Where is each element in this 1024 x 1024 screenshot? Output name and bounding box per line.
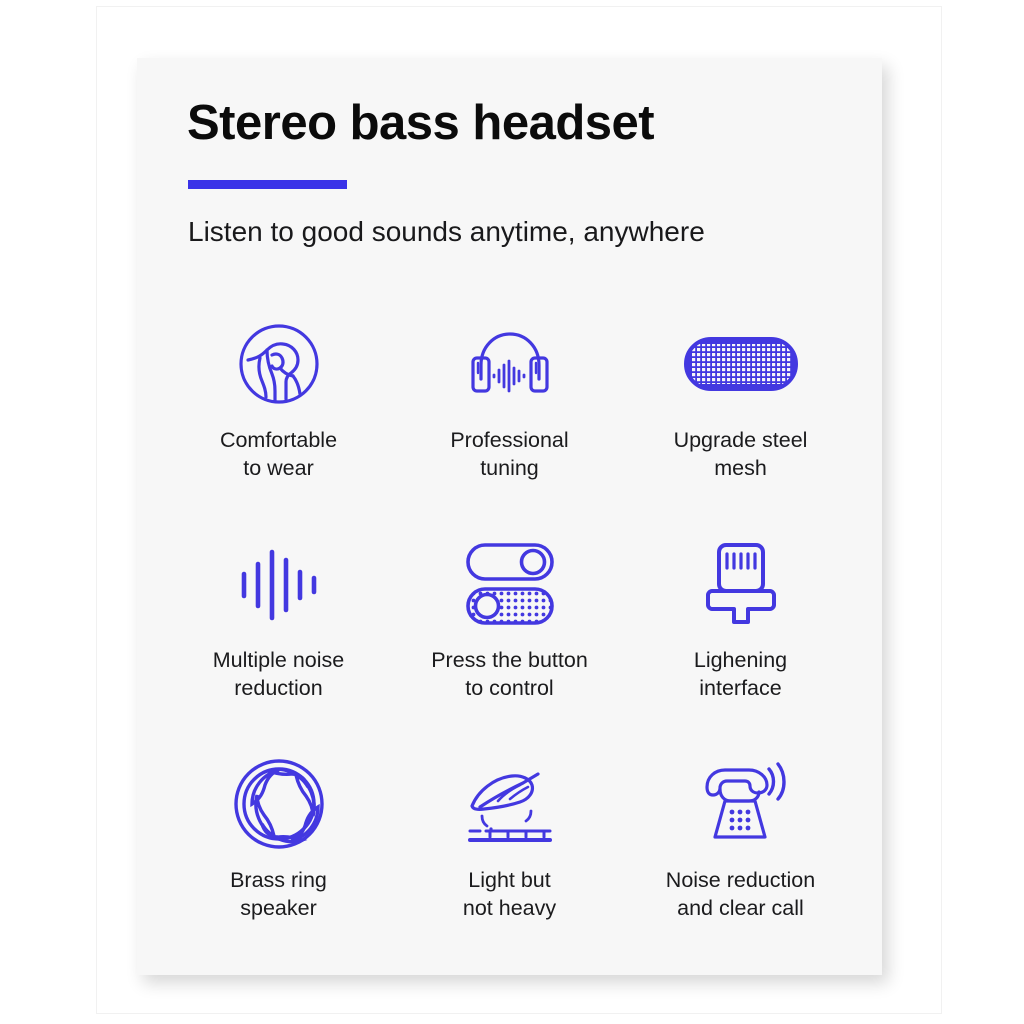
connector-plug-icon xyxy=(701,530,781,638)
feature-item-upgrade-steel-mesh: Upgrade steel mesh xyxy=(625,310,856,530)
feature-label: Press the button to control xyxy=(431,646,588,703)
feature-label: Professional tuning xyxy=(450,426,568,483)
feature-label: Multiple noise reduction xyxy=(213,646,344,703)
page-root: Stereo bass headset Listen to good sound… xyxy=(0,0,1024,1024)
head-in-circle-icon xyxy=(236,310,322,418)
feature-item-light-but-not-heavy: Light but not heavy xyxy=(394,750,625,970)
feature-label: Brass ring speaker xyxy=(230,866,327,923)
feather-scale-icon xyxy=(460,750,560,858)
retro-telephone-icon xyxy=(693,750,789,858)
feature-label: Light but not heavy xyxy=(463,866,556,923)
feature-item-multiple-noise-reduction: Multiple noise reduction xyxy=(163,530,394,750)
toggle-switches-icon xyxy=(463,530,557,638)
feature-item-noise-reduction-and-clear-call: Noise reduction and clear call xyxy=(625,750,856,970)
feature-label: Noise reduction and clear call xyxy=(666,866,815,923)
page-title: Stereo bass headset xyxy=(187,98,654,149)
page-subtitle: Listen to good sounds anytime, anywhere xyxy=(188,215,705,249)
feature-label: Comfortable to wear xyxy=(220,426,337,483)
aperture-speaker-icon xyxy=(232,750,326,858)
title-accent-bar xyxy=(188,180,347,189)
feature-item-brass-ring-speaker: Brass ring speaker xyxy=(163,750,394,970)
feature-grid: Comfortable to wear xyxy=(163,310,856,970)
feature-item-lighening-interface: Lighening interface xyxy=(625,530,856,750)
soundwave-bars-icon xyxy=(229,530,329,638)
feature-item-professional-tuning: Professional tuning xyxy=(394,310,625,530)
card-inner: Stereo bass headset Listen to good sound… xyxy=(137,58,882,975)
steel-mesh-pill-icon xyxy=(682,310,800,418)
feature-item-press-the-button-to-control: Press the button to control xyxy=(394,530,625,750)
product-feature-card: Stereo bass headset Listen to good sound… xyxy=(137,58,882,975)
feature-label: Lighening interface xyxy=(694,646,787,703)
headphones-soundwave-icon xyxy=(465,310,555,418)
feature-label: Upgrade steel mesh xyxy=(674,426,808,483)
feature-item-comfortable-to-wear: Comfortable to wear xyxy=(163,310,394,530)
